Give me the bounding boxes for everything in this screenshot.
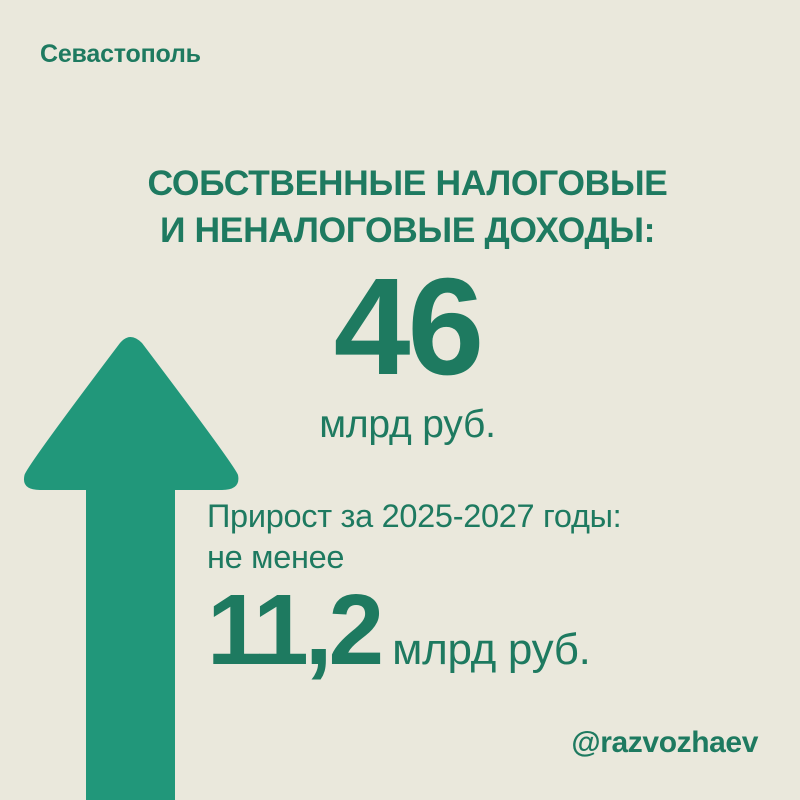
city-label: Севастополь: [40, 40, 201, 69]
growth-unit: млрд руб.: [392, 628, 590, 672]
page-title: СОБСТВЕННЫЕ НАЛОГОВЫЕ И НЕНАЛОГОВЫЕ ДОХО…: [120, 160, 695, 254]
headline-line-1: СОБСТВЕННЫЕ НАЛОГОВЫЕ: [120, 160, 695, 207]
growth-caption-line-1: Прирост за 2025-2027 годы:: [207, 496, 767, 537]
growth-caption-line-2: не менее: [207, 537, 767, 578]
growth-block: Прирост за 2025-2027 годы: не менее 11,2…: [207, 496, 767, 680]
primary-figure-unit: млрд руб.: [120, 400, 695, 450]
growth-caption: Прирост за 2025-2027 годы: не менее: [207, 496, 767, 578]
growth-value: 11,2: [207, 580, 380, 680]
growth-amount-row: 11,2 млрд руб.: [207, 580, 767, 680]
infographic-poster: Севастополь СОБСТВЕННЫЕ НАЛОГОВЫЕ И НЕНА…: [0, 0, 800, 800]
primary-figure-block: 46 млрд руб.: [120, 258, 695, 450]
primary-figure-value: 46: [120, 258, 695, 396]
headline-line-2: И НЕНАЛОГОВЫЕ ДОХОДЫ:: [120, 207, 695, 254]
author-handle: @razvozhaev: [571, 726, 758, 760]
